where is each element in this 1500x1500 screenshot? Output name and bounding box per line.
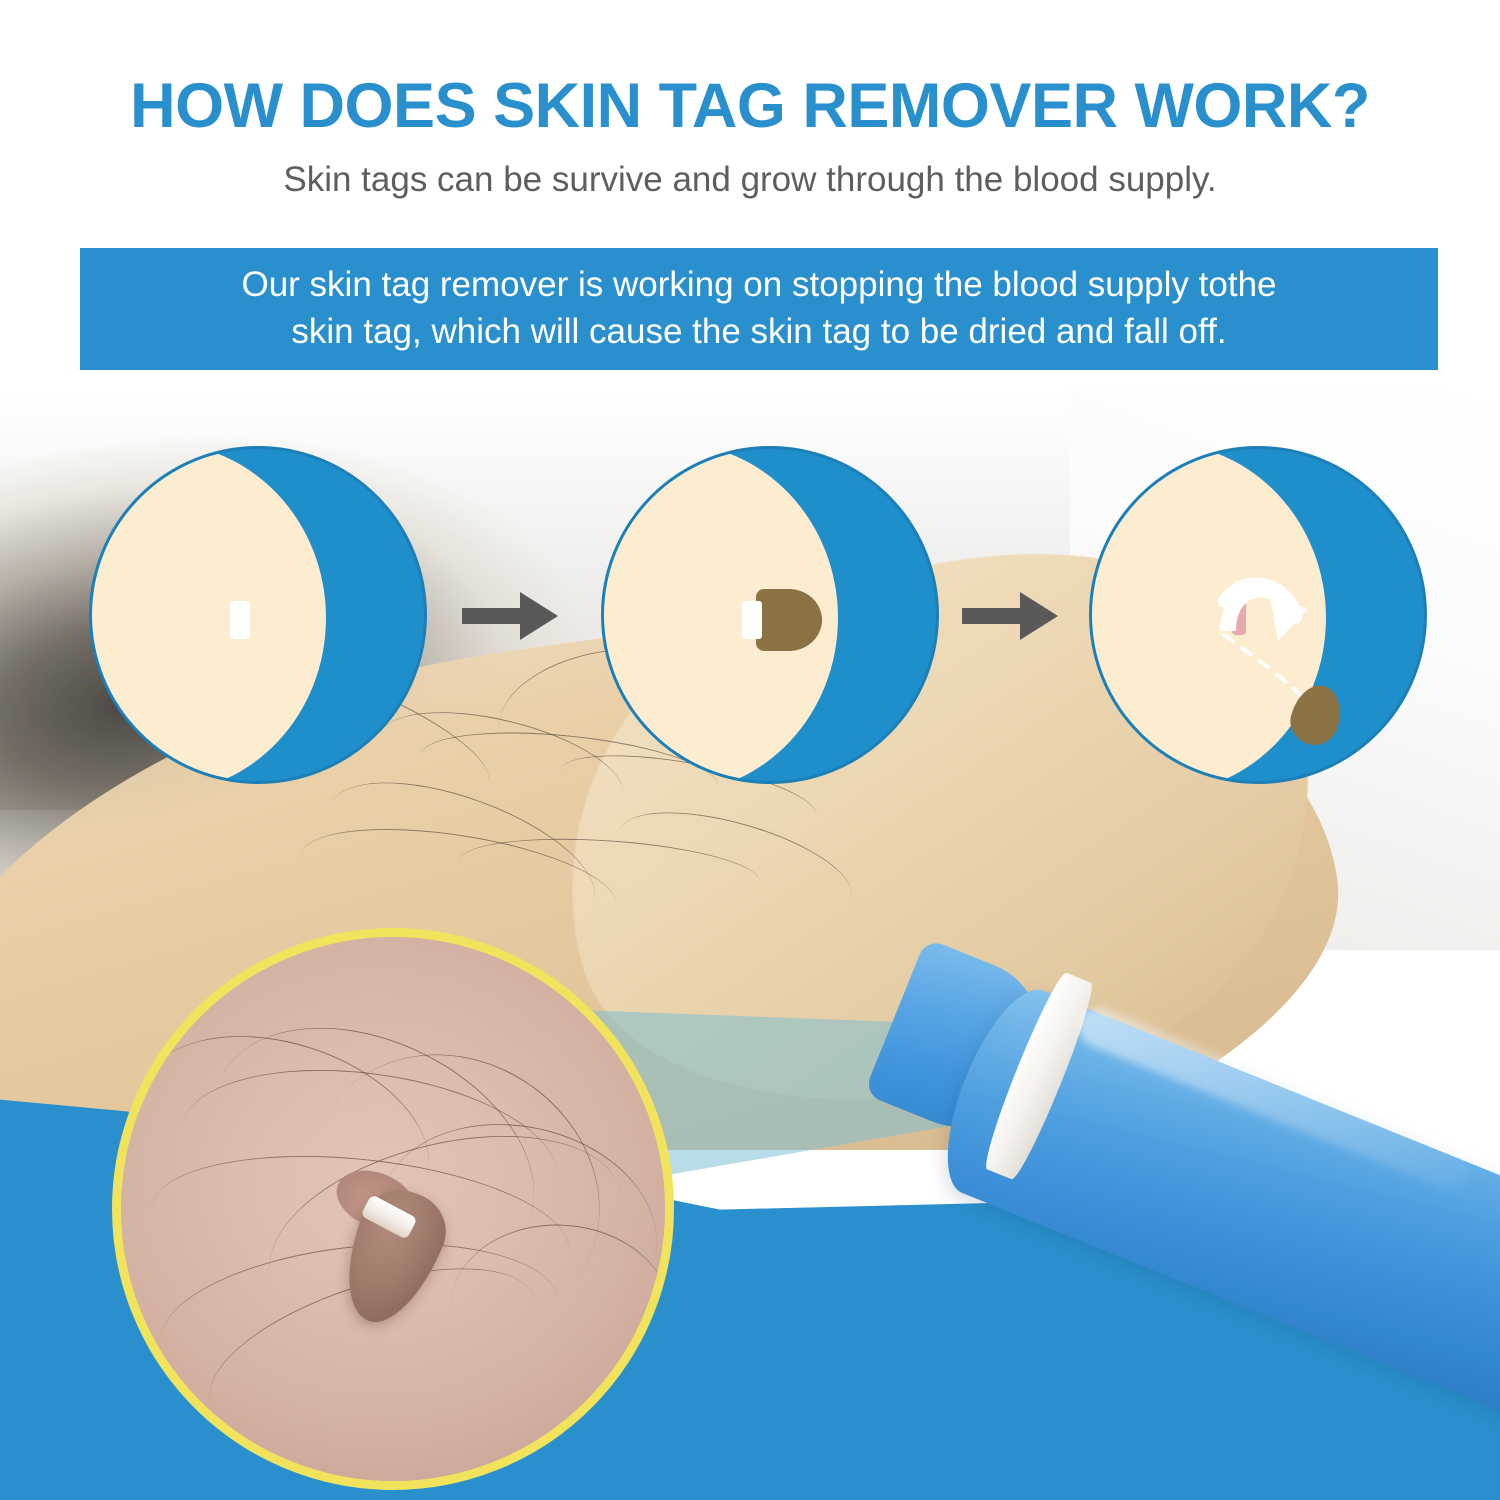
skin-tag-neck <box>230 601 250 639</box>
explanation-banner: Our skin tag remover is working on stopp… <box>80 248 1438 370</box>
curved-arrow-icon <box>1092 449 1427 784</box>
step-arrow-1 <box>462 588 560 644</box>
infographic-page: HOW DOES SKIN TAG REMOVER WORK? Skin tag… <box>0 0 1500 1500</box>
skin-tag-neck <box>742 601 762 639</box>
page-title: HOW DOES SKIN TAG REMOVER WORK? <box>0 70 1500 142</box>
diagram-step-1 <box>89 446 427 784</box>
banner-text: Our skin tag remover is working on stopp… <box>215 262 1302 355</box>
diagram-step-3 <box>1089 446 1427 784</box>
skin-tag-normal <box>248 591 314 649</box>
skin-tag-dried <box>756 589 822 651</box>
step-arrow-2 <box>962 588 1060 644</box>
magnifier-circle <box>112 928 674 1490</box>
banner-line-1: Our skin tag remover is working on stopp… <box>241 265 1276 304</box>
diagram-step-2 <box>601 446 939 784</box>
page-subtitle: Skin tags can be survive and grow throug… <box>0 160 1500 200</box>
banner-line-2: skin tag, which will cause the skin tag … <box>291 312 1226 351</box>
